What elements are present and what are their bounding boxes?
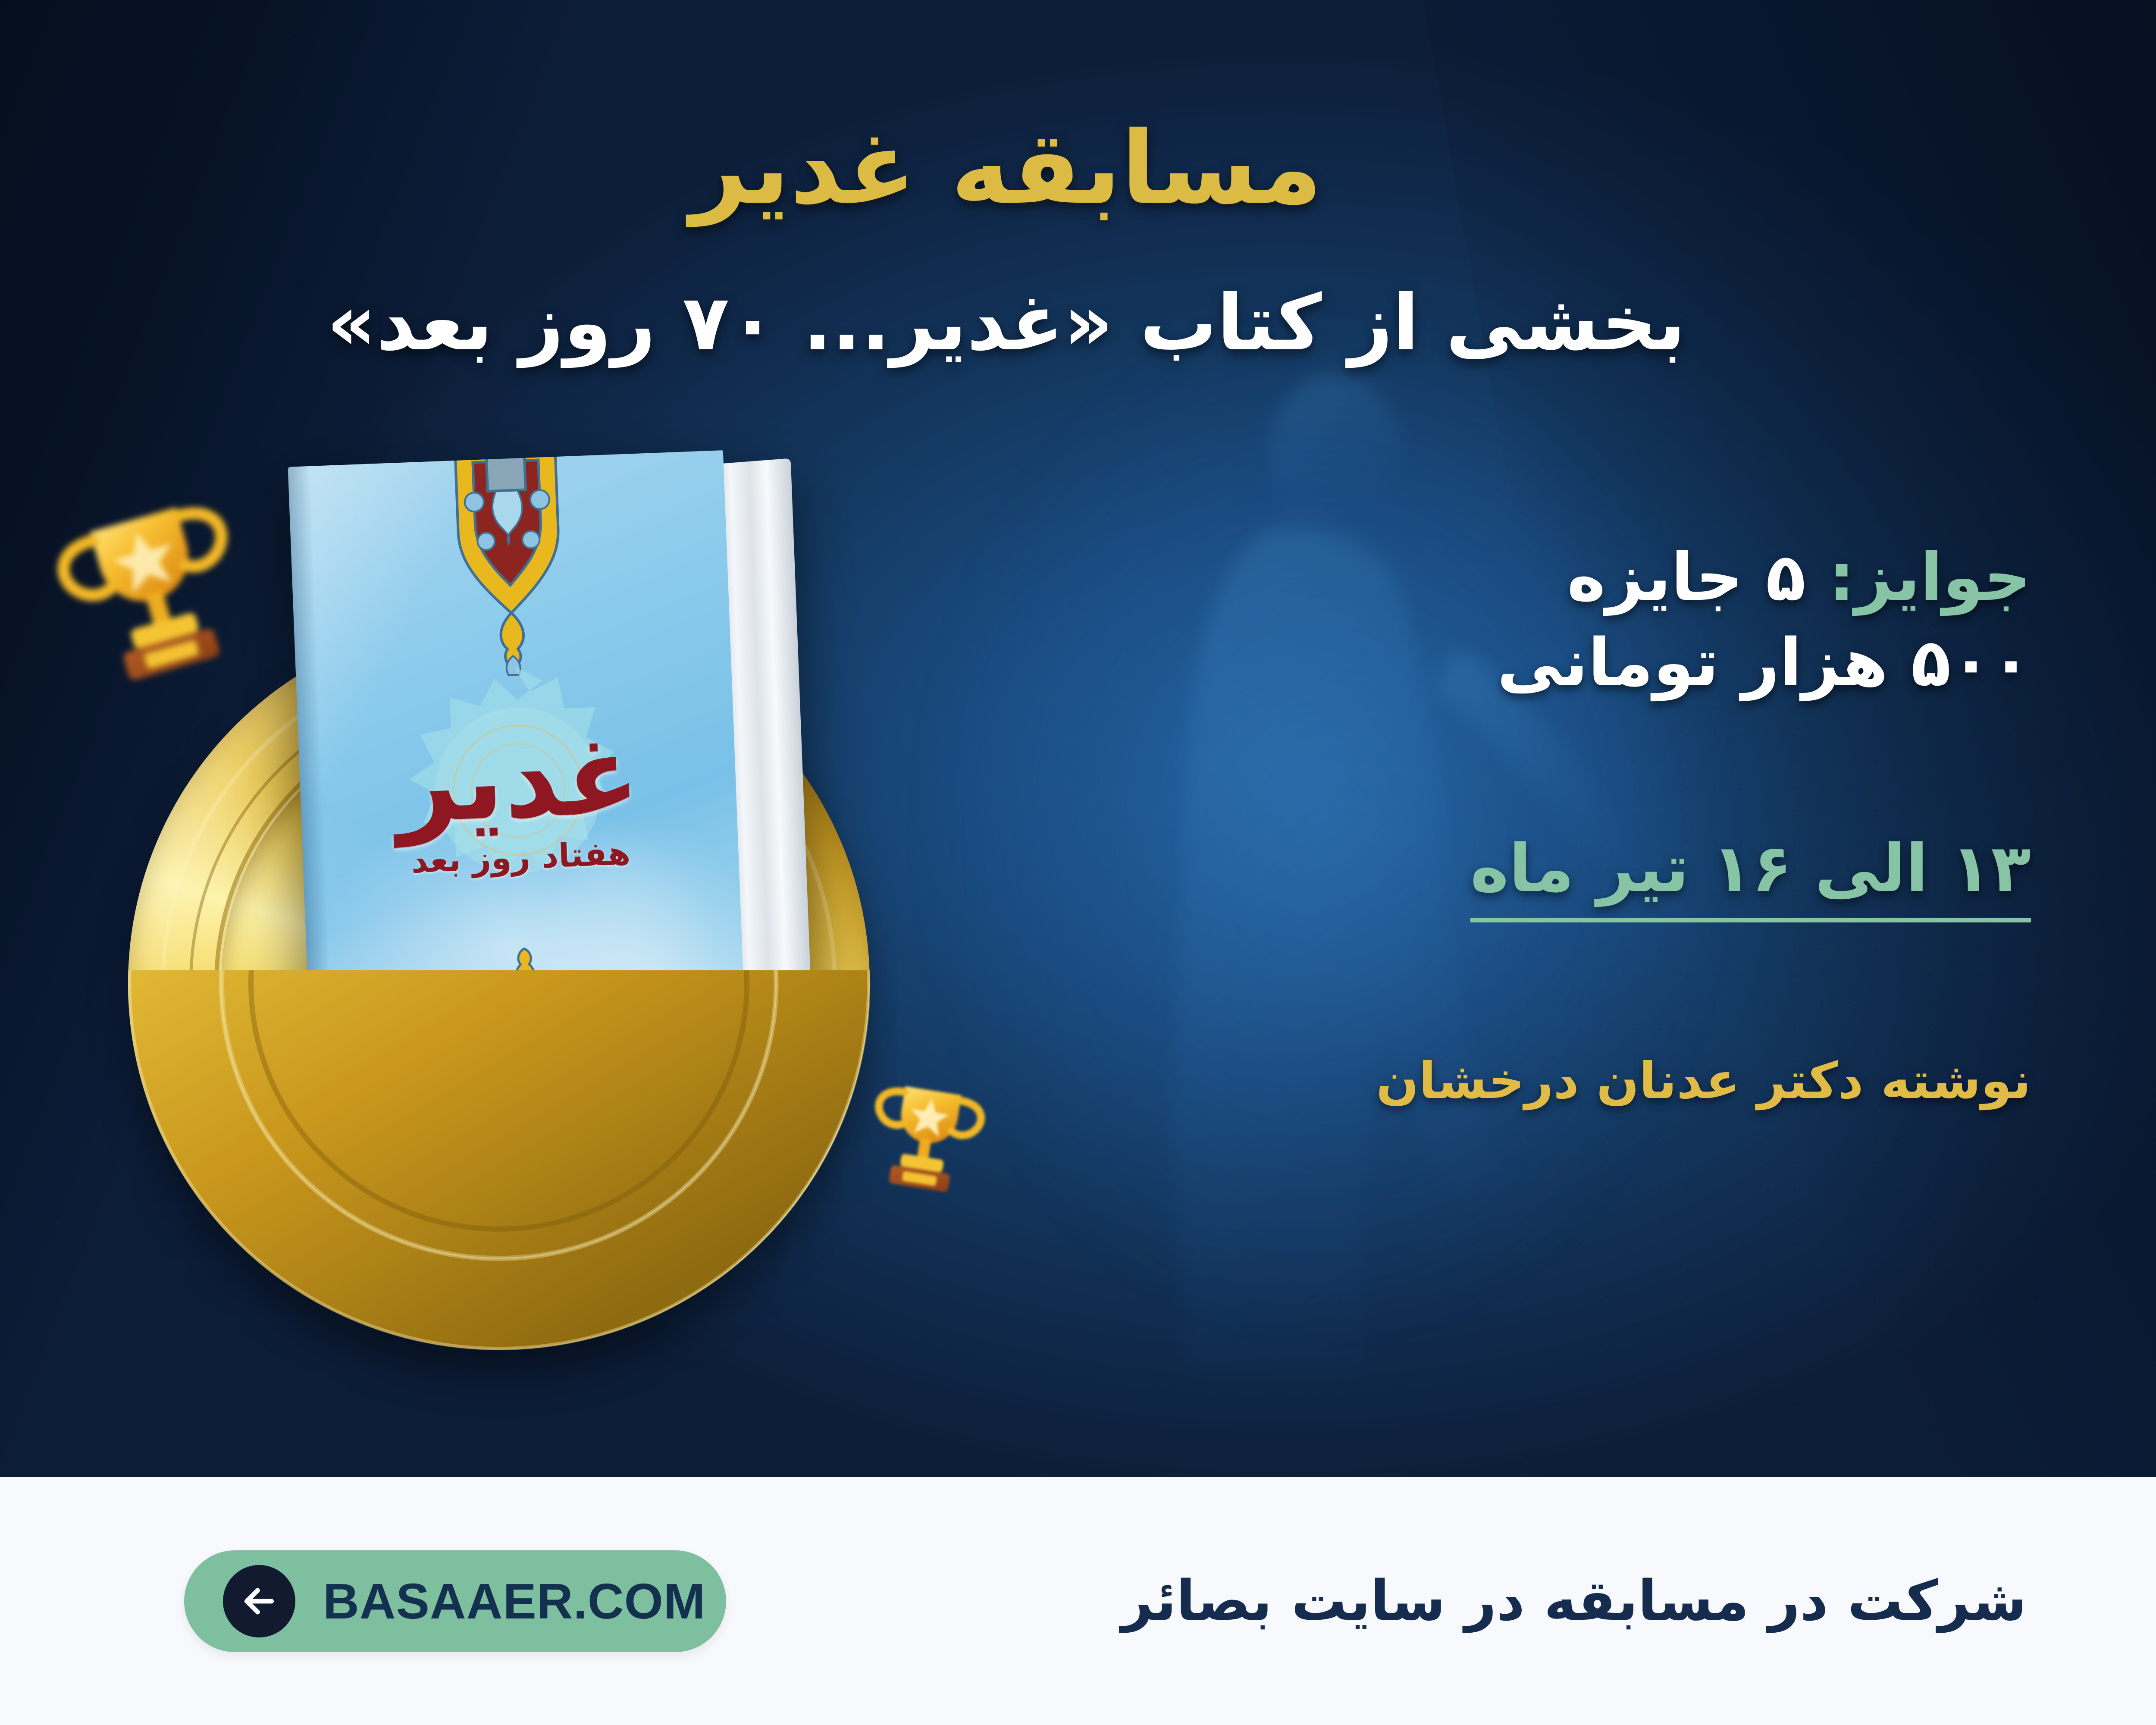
- prize-label: جوایز:: [1829, 539, 2031, 615]
- prize-count-line: جوایز: ۵ جایزه: [1169, 535, 2031, 620]
- footer-call-to-action-text: شرکت در مسابقه در سایت بصائر: [1121, 1569, 2027, 1633]
- prize-count: ۵ جایزه: [1567, 539, 1806, 615]
- artwork-group: غدیر هفتاد روز بعد: [0, 457, 1146, 1397]
- author-credit: نوشته دکتر عدنان درخشان: [1169, 1052, 2031, 1110]
- poster-root: مسابقه غدیر بخشی از کتاب «غدیر... ۷۰ روز…: [0, 0, 2156, 1725]
- poster-headline: مسابقه غدیر: [0, 110, 2156, 226]
- website-url-label[interactable]: BASAAER.COM: [323, 1572, 705, 1630]
- book-cover: غدیر هفتاد روز بعد: [288, 448, 813, 1139]
- book-cover-title: غدیر: [394, 721, 642, 838]
- persian-ornament-bottom-icon: [438, 935, 617, 1127]
- persian-ornament-top-icon: [415, 452, 605, 684]
- arrow-left-icon[interactable]: [223, 1565, 295, 1637]
- visit-website-button[interactable]: BASAAER.COM: [184, 1550, 726, 1652]
- footer-bar: شرکت در مسابقه در سایت بصائر BASAAER.COM: [0, 1477, 2156, 1725]
- trophy-icon: [844, 1057, 1007, 1220]
- details-column: جوایز: ۵ جایزه ۵۰۰ هزار تومانی ۱۳ الی ۱۶…: [1169, 535, 2031, 1110]
- competition-date: ۱۳ الی ۱۶ تیر ماه: [1470, 830, 2031, 922]
- prize-amount-line: ۵۰۰ هزار تومانی: [1169, 620, 2031, 706]
- poster-subheadline: بخشی از کتاب «غدیر... ۷۰ روز بعد»: [0, 278, 2156, 367]
